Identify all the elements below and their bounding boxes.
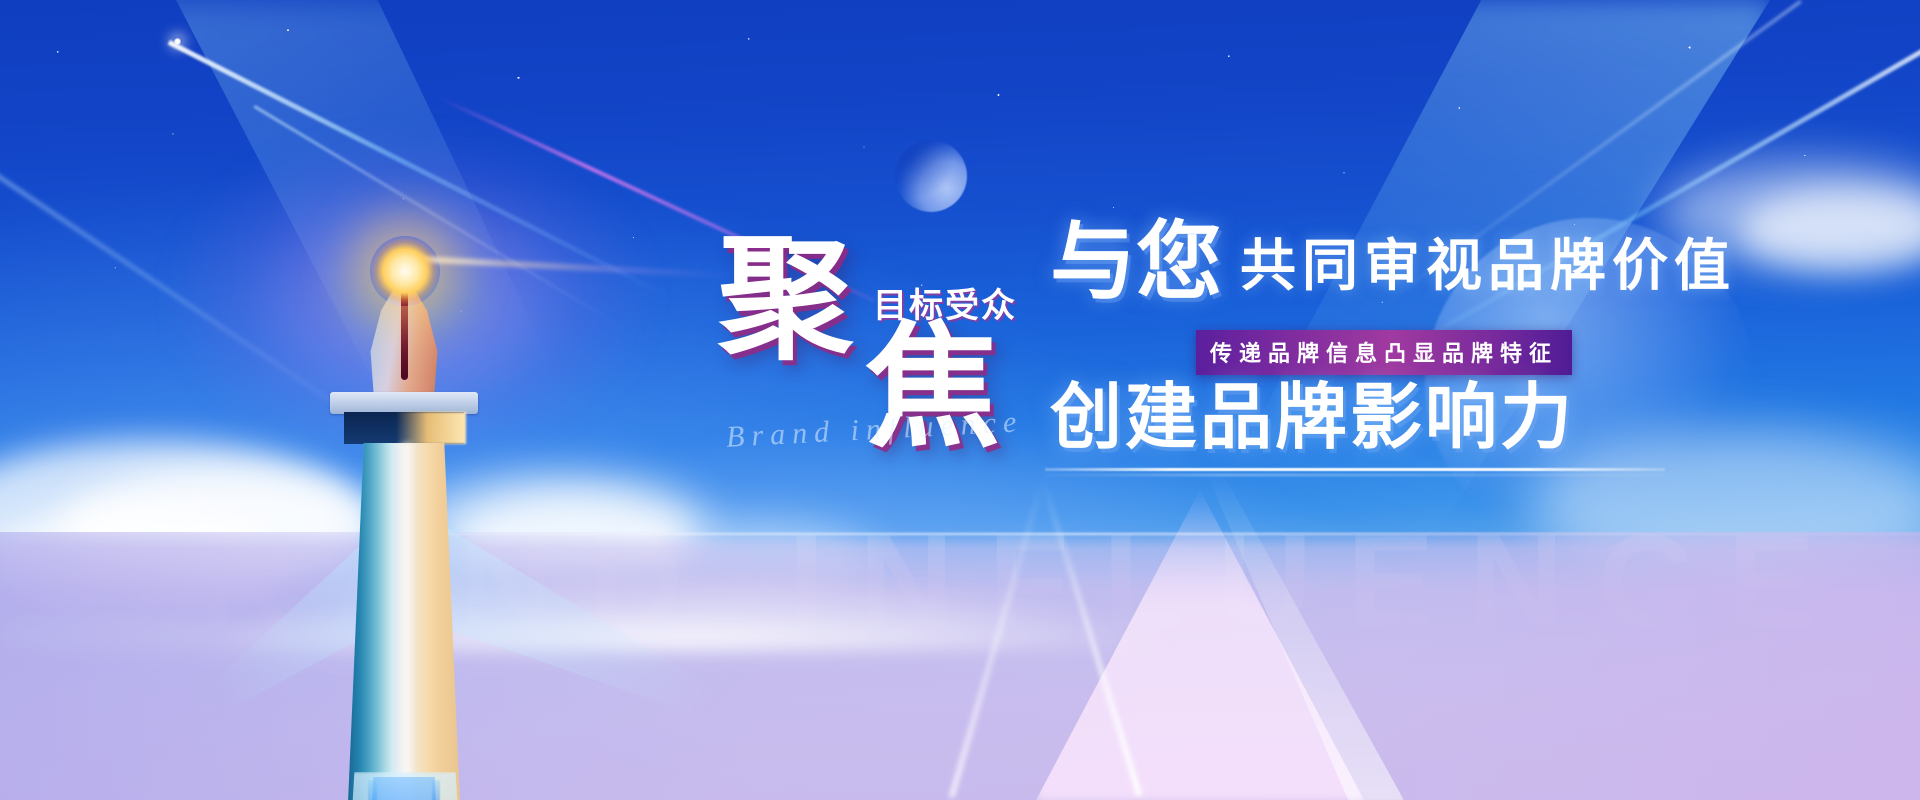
crescent-moon-icon: [895, 140, 967, 212]
cloud: [1740, 190, 1920, 270]
headline-underline-soft: [1045, 474, 1665, 476]
headline-line-2: 创建品牌影响力: [1050, 382, 1575, 454]
lighthouse-tower-highlight: [398, 443, 416, 800]
headline-line-1-emphasis: 与您: [1050, 222, 1222, 304]
lighthouse-base-edge-left: [368, 780, 377, 800]
nib-lens-flare: [405, 255, 735, 278]
marketing-banner: BRAND INFLUENCE 聚 目标受众 焦 Brand influence: [0, 0, 1920, 800]
lighthouse-lamp-light: [396, 412, 466, 444]
lighthouse-base-edge-right: [432, 780, 440, 800]
bright-star-icon: [173, 37, 182, 46]
headline-underline: [1045, 468, 1665, 471]
status-badge: 传递品牌信息凸显品牌特征: [1196, 330, 1572, 375]
headline-line-1-rest: 共同审视品牌价值: [1240, 237, 1736, 304]
lighthouse-pen-nib-icon: [310, 232, 510, 800]
headline-line-1: 与您 共同审视品牌价值: [1050, 222, 1736, 304]
lighthouse-gallery-cap: [330, 392, 478, 414]
headline-char-ju: 聚: [718, 232, 853, 367]
nib-light-glow: [370, 236, 440, 306]
